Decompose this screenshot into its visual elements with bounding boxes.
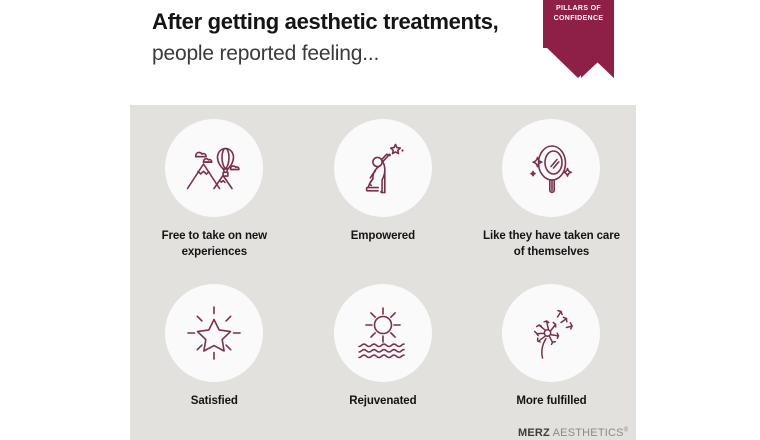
- benefit-label: Empowered: [351, 229, 415, 245]
- person-reaching-stars-icon: [350, 135, 416, 201]
- ribbon-label-line1: PILLARS OF: [543, 4, 614, 14]
- sun-over-water-icon: [350, 300, 416, 366]
- headline-primary: After getting aesthetic treatments,: [152, 8, 532, 37]
- icon-circle: [502, 284, 600, 382]
- dandelion-icon: [518, 300, 584, 366]
- ribbon-label-line2: CONFIDENCE: [543, 14, 614, 24]
- icon-circle: [334, 284, 432, 382]
- benefit-item: Like they have taken care of themselves: [467, 105, 636, 260]
- benefit-label: More fulfilled: [516, 394, 586, 410]
- benefit-item: More fulfilled: [467, 260, 636, 410]
- benefit-item: Rejuvenated: [299, 260, 468, 410]
- benefits-grid: Free to take on new experiences: [130, 105, 636, 410]
- mountain-balloon-icon: [181, 135, 247, 201]
- benefit-item: Free to take on new experiences: [130, 105, 299, 260]
- hand-mirror-sparkle-icon: [518, 135, 584, 201]
- icon-circle: [165, 119, 263, 217]
- benefit-label: Free to take on new experiences: [139, 229, 289, 260]
- icon-circle: [334, 119, 432, 217]
- benefit-label: Satisfied: [191, 394, 238, 410]
- ribbon-label: PILLARS OF CONFIDENCE: [543, 4, 614, 24]
- icon-circle: [165, 284, 263, 382]
- infographic-canvas: After getting aesthetic treatments, peop…: [0, 0, 760, 440]
- header: After getting aesthetic treatments, peop…: [152, 8, 532, 68]
- content-panel: Free to take on new experiences: [130, 105, 636, 440]
- benefit-label: Rejuvenated: [349, 394, 416, 410]
- benefit-label: Like they have taken care of themselves: [476, 229, 626, 260]
- headline-secondary: people reported feeling...: [152, 40, 532, 68]
- logo-suffix: AESTHETICS: [550, 427, 624, 439]
- logo-registered-mark: ®: [624, 427, 629, 433]
- icon-circle: [502, 119, 600, 217]
- benefit-item: Satisfied: [130, 260, 299, 410]
- benefit-item: Empowered: [299, 105, 468, 260]
- shining-star-icon: [181, 300, 247, 366]
- merz-aesthetics-logo: MERZ AESTHETICS®: [518, 427, 628, 439]
- logo-brand: MERZ: [518, 427, 550, 439]
- pillars-of-confidence-ribbon: PILLARS OF CONFIDENCE: [543, 0, 614, 78]
